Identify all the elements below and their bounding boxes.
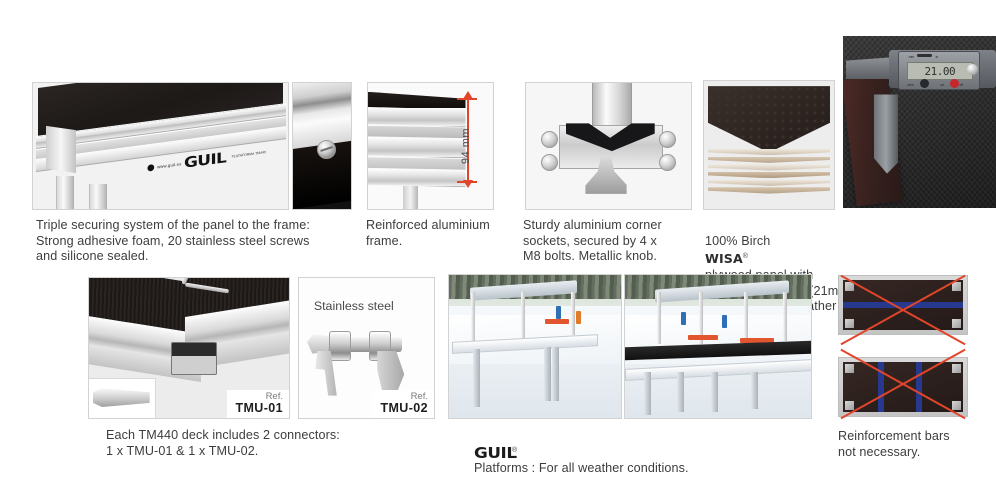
ref-code: TMU-01 — [235, 402, 283, 415]
dimension-label: 94 mm — [460, 128, 472, 164]
caption-no-bars: Reinforcement bars not necessary. — [838, 429, 996, 460]
slope-marker — [681, 312, 686, 325]
deck-leg — [403, 186, 418, 209]
corner-fitting-icon — [845, 401, 854, 410]
birch-ply — [708, 157, 830, 163]
panel-snow-left — [448, 274, 622, 419]
caliper-reading: 21.00 — [925, 65, 956, 78]
deck-diagram-horizontal-bar — [838, 275, 968, 335]
corner-fitting-icon — [845, 282, 854, 291]
corner-profile — [46, 126, 76, 173]
corner-fitting-icon — [845, 319, 854, 328]
tmu01-connector — [171, 342, 217, 375]
corner-fitting-icon — [845, 364, 854, 373]
on-label: on — [940, 83, 944, 87]
caption-platforms: GUIL® Platforms : For all weather condit… — [474, 427, 804, 477]
brand-url: www.guil.es — [157, 161, 181, 169]
m8-bolt-icon — [541, 154, 558, 171]
slope-marker — [556, 306, 561, 319]
slope-barrier — [545, 319, 569, 324]
panel-caliper-measurement: mm in 21.00 zero on off — [843, 36, 996, 208]
deck-body — [843, 280, 963, 330]
tmu02-ref-badge: Ref. TMU-02 — [372, 390, 434, 418]
corner-fitting-icon — [952, 282, 961, 291]
tmu01-part-inset — [89, 378, 156, 418]
profile-slat — [368, 169, 466, 188]
canopy-post — [657, 292, 661, 343]
plywood-text-part1: 100% Birch — [705, 234, 770, 248]
canopy-post — [521, 292, 525, 338]
corner-fitting-icon — [952, 364, 961, 373]
panel-frame-profile: 94 mm — [367, 82, 494, 210]
profile-slat — [368, 137, 466, 158]
deck-top-edge — [368, 92, 466, 108]
panel-snow-right — [624, 274, 812, 419]
non-slip-top-layer — [708, 86, 830, 153]
reinforcement-bar — [843, 302, 963, 308]
birch-ply — [708, 180, 830, 186]
m8-bolt-icon — [659, 131, 676, 148]
frame-model-text: PLATAFORMA TM440 — [232, 150, 266, 158]
brand-wordmark: GUIL — [185, 149, 227, 172]
caliper-lower-jaw — [874, 94, 898, 173]
caption-connectors: Each TM440 deck includes 2 connectors: 1… — [106, 428, 406, 459]
panel-tmu02: Stainless steel Ref. TMU-02 — [298, 277, 435, 419]
profile-slat — [368, 157, 466, 169]
caption-reinforced-frame: Reinforced aluminium frame. — [366, 218, 512, 249]
platform-leg — [544, 347, 551, 401]
panel-no-reinforcement-bars — [838, 275, 968, 419]
guil-brand-logo: GUIL — [474, 446, 517, 462]
tmu02-plate — [307, 334, 329, 354]
wisa-brand-label: WISA — [705, 251, 743, 266]
profile-slat — [368, 126, 466, 138]
deck-leg — [89, 184, 107, 209]
power-button[interactable] — [950, 79, 959, 88]
deck-diagram-vertical-bars — [838, 357, 968, 417]
corner-fitting-icon — [952, 401, 961, 410]
birch-ply — [708, 187, 830, 193]
zero-button[interactable] — [920, 79, 929, 88]
profile-slat — [368, 107, 466, 127]
unit-in-label: in — [936, 55, 939, 59]
panel-corner-socket — [525, 82, 692, 210]
reinforcement-bar — [878, 362, 884, 412]
caption-triple-securing: Triple securing system of the panel to t… — [36, 218, 358, 265]
panel-plywood-section — [703, 80, 835, 210]
panel-deck-logo: www.guil.es GUIL PLATAFORMA TM440 — [32, 82, 289, 210]
guil-mark-icon — [148, 164, 155, 172]
slope-marker — [722, 315, 727, 328]
birch-ply — [708, 172, 830, 178]
registered-icon: ® — [743, 253, 748, 260]
canopy-post — [571, 292, 575, 335]
caliper-thumb-wheel[interactable] — [967, 64, 978, 75]
m8-bolt-icon — [541, 131, 558, 148]
canopy-post — [744, 292, 748, 341]
material-label: Stainless steel — [314, 299, 394, 313]
unit-toggle-switch[interactable] — [917, 54, 933, 57]
deck-body — [843, 362, 963, 412]
birch-ply — [708, 164, 830, 170]
platform-leg — [711, 372, 718, 412]
canopy-post — [783, 292, 787, 341]
tmu01-ref-badge: Ref. TMU-01 — [227, 390, 289, 418]
platform-leg — [473, 349, 480, 406]
platform-leg — [644, 372, 651, 415]
slope-marker — [576, 311, 581, 324]
panel-screw-detail — [292, 82, 352, 210]
platform-leg — [751, 372, 758, 409]
platform-leg — [552, 347, 559, 401]
caliper-lcd: 21.00 — [907, 62, 973, 81]
platform-leg — [677, 372, 684, 412]
zero-button-label: zero — [907, 83, 914, 87]
reinforcement-bar — [916, 362, 922, 412]
panel-tmu01: Ref. TMU-01 — [88, 277, 290, 419]
caption-corner-sockets: Sturdy aluminium corner sockets, secured… — [523, 218, 695, 265]
deck-leg — [56, 176, 74, 209]
tmu02-hook-right — [377, 351, 404, 393]
corner-fitting-icon — [952, 319, 961, 328]
birch-ply — [708, 149, 830, 155]
ref-code: TMU-02 — [380, 402, 428, 415]
slope-barrier — [688, 335, 718, 340]
platforms-text: Platforms : For all weather conditions. — [474, 461, 689, 475]
tmu02-cylinder — [329, 331, 351, 361]
stainless-screw-icon — [317, 140, 336, 159]
tmu01-part — [93, 388, 150, 407]
brochure-page: www.guil.es GUIL PLATAFORMA TM440 94 mm — [0, 0, 996, 479]
unit-mm-label: mm — [909, 55, 915, 59]
canopy-post — [471, 292, 475, 341]
m8-bolt-icon — [659, 154, 676, 171]
off-label: off — [960, 83, 964, 87]
